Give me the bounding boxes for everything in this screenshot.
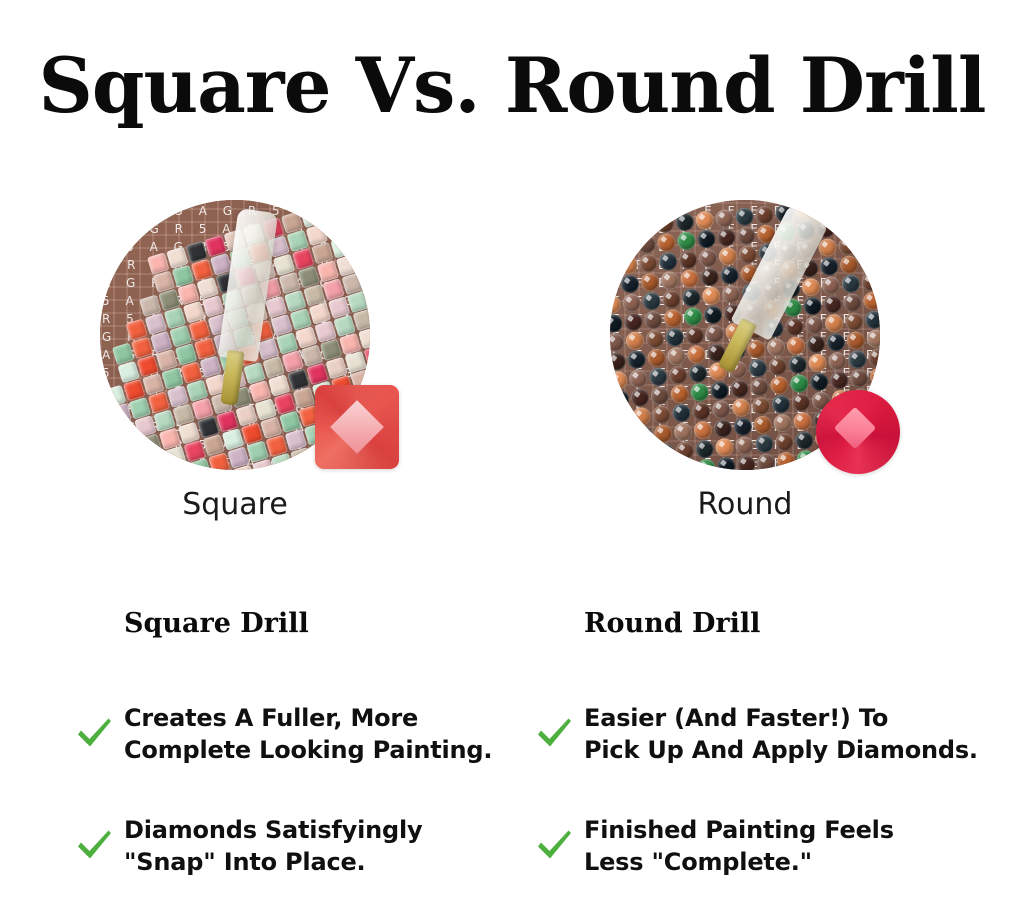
drill-cell xyxy=(735,436,755,456)
drill-cell xyxy=(632,407,652,427)
drill-cell xyxy=(828,351,848,371)
benefit-item: Diamonds Satisfyingly "Snap" Into Place. xyxy=(124,810,554,882)
drill-cell xyxy=(770,376,790,396)
photo-caption-round: Round xyxy=(610,488,880,522)
drill-cell xyxy=(617,236,637,256)
drill-cell xyxy=(665,328,685,348)
drill-cell xyxy=(624,312,644,332)
drill-cell xyxy=(876,214,880,234)
drill-cell xyxy=(682,288,702,308)
drill-cell xyxy=(863,291,880,311)
drill-cell xyxy=(808,353,828,373)
benefits-column-round: Round Drill Easier (And Faster!) To Pick… xyxy=(584,608,1014,922)
drill-cell xyxy=(823,295,843,315)
benefits-heading-square: Square Drill xyxy=(124,608,554,640)
drill-cell xyxy=(818,238,838,258)
drill-cell xyxy=(677,231,697,251)
drill-cell xyxy=(717,228,737,248)
drill-cell xyxy=(657,462,677,470)
drill-cell xyxy=(721,284,741,304)
photo-caption-square: Square xyxy=(100,488,370,522)
benefit-item: Easier (And Faster!) To Pick Up And Appl… xyxy=(584,698,1014,770)
drill-cell xyxy=(687,345,707,365)
drill-cell xyxy=(610,410,611,430)
drill-cell xyxy=(668,365,688,385)
drill-cell xyxy=(612,408,632,428)
drill-cell xyxy=(858,234,878,254)
drill-cell xyxy=(630,388,650,408)
drill-cell xyxy=(786,336,806,356)
comparison-item-square: A G R 5 A G R 5 A G R 5 A G R 5 A G R 5 … xyxy=(100,200,400,475)
drill-cell xyxy=(653,424,673,444)
drill-cell xyxy=(788,355,808,375)
drill-cell xyxy=(773,413,793,433)
drill-cell xyxy=(731,398,751,418)
drill-cell xyxy=(796,450,816,470)
drill-cell xyxy=(610,238,616,258)
drill-cell xyxy=(735,207,755,227)
drill-cell xyxy=(776,451,796,470)
drill-cell xyxy=(775,432,795,452)
drill-cell xyxy=(610,295,621,315)
drill-cell xyxy=(718,247,738,267)
drill-cell xyxy=(859,253,879,273)
drill-cell xyxy=(705,324,725,344)
drill-cell xyxy=(856,215,876,235)
drill-cell xyxy=(874,200,880,214)
drill-cell xyxy=(610,371,628,391)
drill-cell xyxy=(642,291,662,311)
benefits-heading-round: Round Drill xyxy=(584,608,1014,640)
drill-cell xyxy=(791,393,811,413)
drill-cell xyxy=(640,272,660,292)
benefit-text: Creates A Fuller, More Complete Looking … xyxy=(124,702,492,766)
drill-cell xyxy=(658,252,678,272)
drill-cell xyxy=(635,216,655,236)
drill-cell xyxy=(795,431,815,451)
drill-cell xyxy=(650,386,670,406)
drill-cell xyxy=(854,200,874,216)
drill-cell xyxy=(702,286,722,306)
drill-cell xyxy=(615,217,635,237)
drill-cell xyxy=(710,381,730,401)
drill-cell xyxy=(785,317,805,337)
drill-cell xyxy=(645,329,665,349)
drill-cell xyxy=(720,265,740,285)
check-icon xyxy=(534,714,574,754)
drill-cell xyxy=(655,214,675,234)
drill-cell xyxy=(843,293,863,313)
drill-cell xyxy=(878,233,880,253)
check-icon xyxy=(534,826,574,866)
drill-cell xyxy=(803,296,823,316)
drill-cell xyxy=(657,233,677,253)
drill-cell xyxy=(864,310,880,330)
benefit-item: Finished Painting Feels Less "Complete." xyxy=(584,810,1014,882)
drill-cell xyxy=(610,467,616,470)
drill-cell xyxy=(798,468,818,470)
drill-cell xyxy=(647,348,667,368)
drill-cell xyxy=(713,419,733,439)
drill-cell xyxy=(643,310,663,330)
drill-cell xyxy=(678,250,698,270)
drill-cell xyxy=(677,460,697,470)
drill-cell xyxy=(610,448,615,468)
drill-cell xyxy=(805,315,825,335)
drill-cell xyxy=(861,272,880,292)
drill-cell xyxy=(673,422,693,442)
drill-cell xyxy=(879,252,880,272)
drill-cell xyxy=(766,338,786,358)
drill-cell xyxy=(662,290,682,310)
drill-cell xyxy=(736,455,756,470)
drill-cell xyxy=(866,329,880,349)
drill-cell xyxy=(712,400,732,420)
drill-cell xyxy=(695,210,715,230)
drill-cell xyxy=(628,369,648,389)
drill-cell xyxy=(683,307,703,327)
drill-cell xyxy=(755,434,775,454)
drill-cell xyxy=(663,309,683,329)
drill-cell xyxy=(610,219,615,239)
drill-cell xyxy=(698,248,718,268)
drill-cell xyxy=(746,339,766,359)
drill-cell xyxy=(638,254,658,274)
drill-cell xyxy=(838,236,858,256)
drill-cell xyxy=(748,358,768,378)
drill-cell xyxy=(692,401,712,421)
drill-cell xyxy=(844,312,864,332)
drill-cell xyxy=(610,352,626,372)
drill-cell xyxy=(824,314,844,334)
drill-cell xyxy=(660,271,680,291)
benefit-item: Creates A Fuller, More Complete Looking … xyxy=(124,698,554,770)
drill-cell xyxy=(675,212,695,232)
drill-cell xyxy=(637,235,657,255)
drill-cell xyxy=(353,309,370,331)
drill-cell xyxy=(771,394,791,414)
drill-cell xyxy=(667,346,687,366)
drill-cell xyxy=(622,293,642,313)
drill-cell xyxy=(848,350,868,370)
check-icon xyxy=(74,714,114,754)
drill-cell xyxy=(733,417,753,437)
drill-cell xyxy=(829,370,849,390)
drill-cell xyxy=(615,446,635,466)
drill-cell xyxy=(610,429,613,449)
drill-cell xyxy=(625,331,645,351)
drill-cell xyxy=(715,438,735,458)
drill-cell xyxy=(809,372,829,392)
drill-cell xyxy=(680,269,700,289)
drill-cell xyxy=(846,331,866,351)
drill-cell xyxy=(697,229,717,249)
drill-cell xyxy=(703,305,723,325)
drill-cell xyxy=(750,377,770,397)
benefit-text: Easier (And Faster!) To Pick Up And Appl… xyxy=(584,702,978,766)
drill-cell xyxy=(695,439,715,459)
drill-cell xyxy=(635,445,655,465)
drill-cell xyxy=(675,441,695,461)
drill-cell xyxy=(697,458,717,470)
drill-cell xyxy=(839,255,859,275)
drill-cell xyxy=(751,396,771,416)
drill-cell xyxy=(693,420,713,440)
drill-cell xyxy=(610,333,625,353)
drill-cell xyxy=(648,367,668,387)
drill-cell xyxy=(620,274,640,294)
drill-cell xyxy=(700,267,720,287)
check-icon xyxy=(74,826,114,866)
drill-cell xyxy=(685,326,705,346)
drill-cell xyxy=(610,257,618,277)
drill-cell xyxy=(637,463,657,470)
page-title: Square Vs. Round Drill xyxy=(5,44,1019,128)
drill-cell xyxy=(821,276,841,296)
drill-cell xyxy=(610,390,630,410)
drill-cell xyxy=(819,257,839,277)
drill-cell xyxy=(756,453,776,470)
drill-cell xyxy=(793,412,813,432)
drill-cell xyxy=(610,276,620,296)
drill-cell xyxy=(610,314,623,334)
drill-cell xyxy=(633,426,653,446)
drill-cell xyxy=(655,443,675,463)
drill-cell xyxy=(617,465,637,470)
drill-cell xyxy=(730,379,750,399)
benefit-text: Diamonds Satisfyingly "Snap" Into Place. xyxy=(124,814,422,878)
round-gem-icon xyxy=(816,390,900,474)
drill-cell xyxy=(670,384,690,404)
benefit-text: Finished Painting Feels Less "Complete." xyxy=(584,814,894,878)
drill-cell xyxy=(790,374,810,394)
drill-cell xyxy=(736,226,756,246)
drill-cell xyxy=(768,357,788,377)
drill-cell xyxy=(738,245,758,265)
drill-cell xyxy=(841,274,861,294)
drill-cell xyxy=(869,367,880,387)
drill-cell xyxy=(826,332,846,352)
drill-cell xyxy=(716,457,736,470)
drill-cell xyxy=(690,383,710,403)
drill-cell xyxy=(801,277,821,297)
drill-cell xyxy=(836,217,856,237)
drill-cell xyxy=(755,205,775,225)
drill-cell xyxy=(753,415,773,435)
drill-cell xyxy=(672,403,692,423)
benefits-column-square: Square Drill Creates A Fuller, More Comp… xyxy=(124,608,554,922)
drill-cell xyxy=(627,350,647,370)
drill-cell xyxy=(834,200,854,218)
drill-cell xyxy=(849,369,869,389)
drill-cell xyxy=(652,405,672,425)
drill-cell xyxy=(614,427,634,447)
drill-cell xyxy=(868,348,880,368)
drill-cell xyxy=(715,209,735,229)
drill-cell xyxy=(619,255,639,275)
square-gem-icon xyxy=(315,385,399,469)
drill-cell xyxy=(688,364,708,384)
drill-cell xyxy=(806,334,826,354)
comparison-item-round: E F E F E F E F E F E F E F E F E F E F … xyxy=(610,200,910,475)
